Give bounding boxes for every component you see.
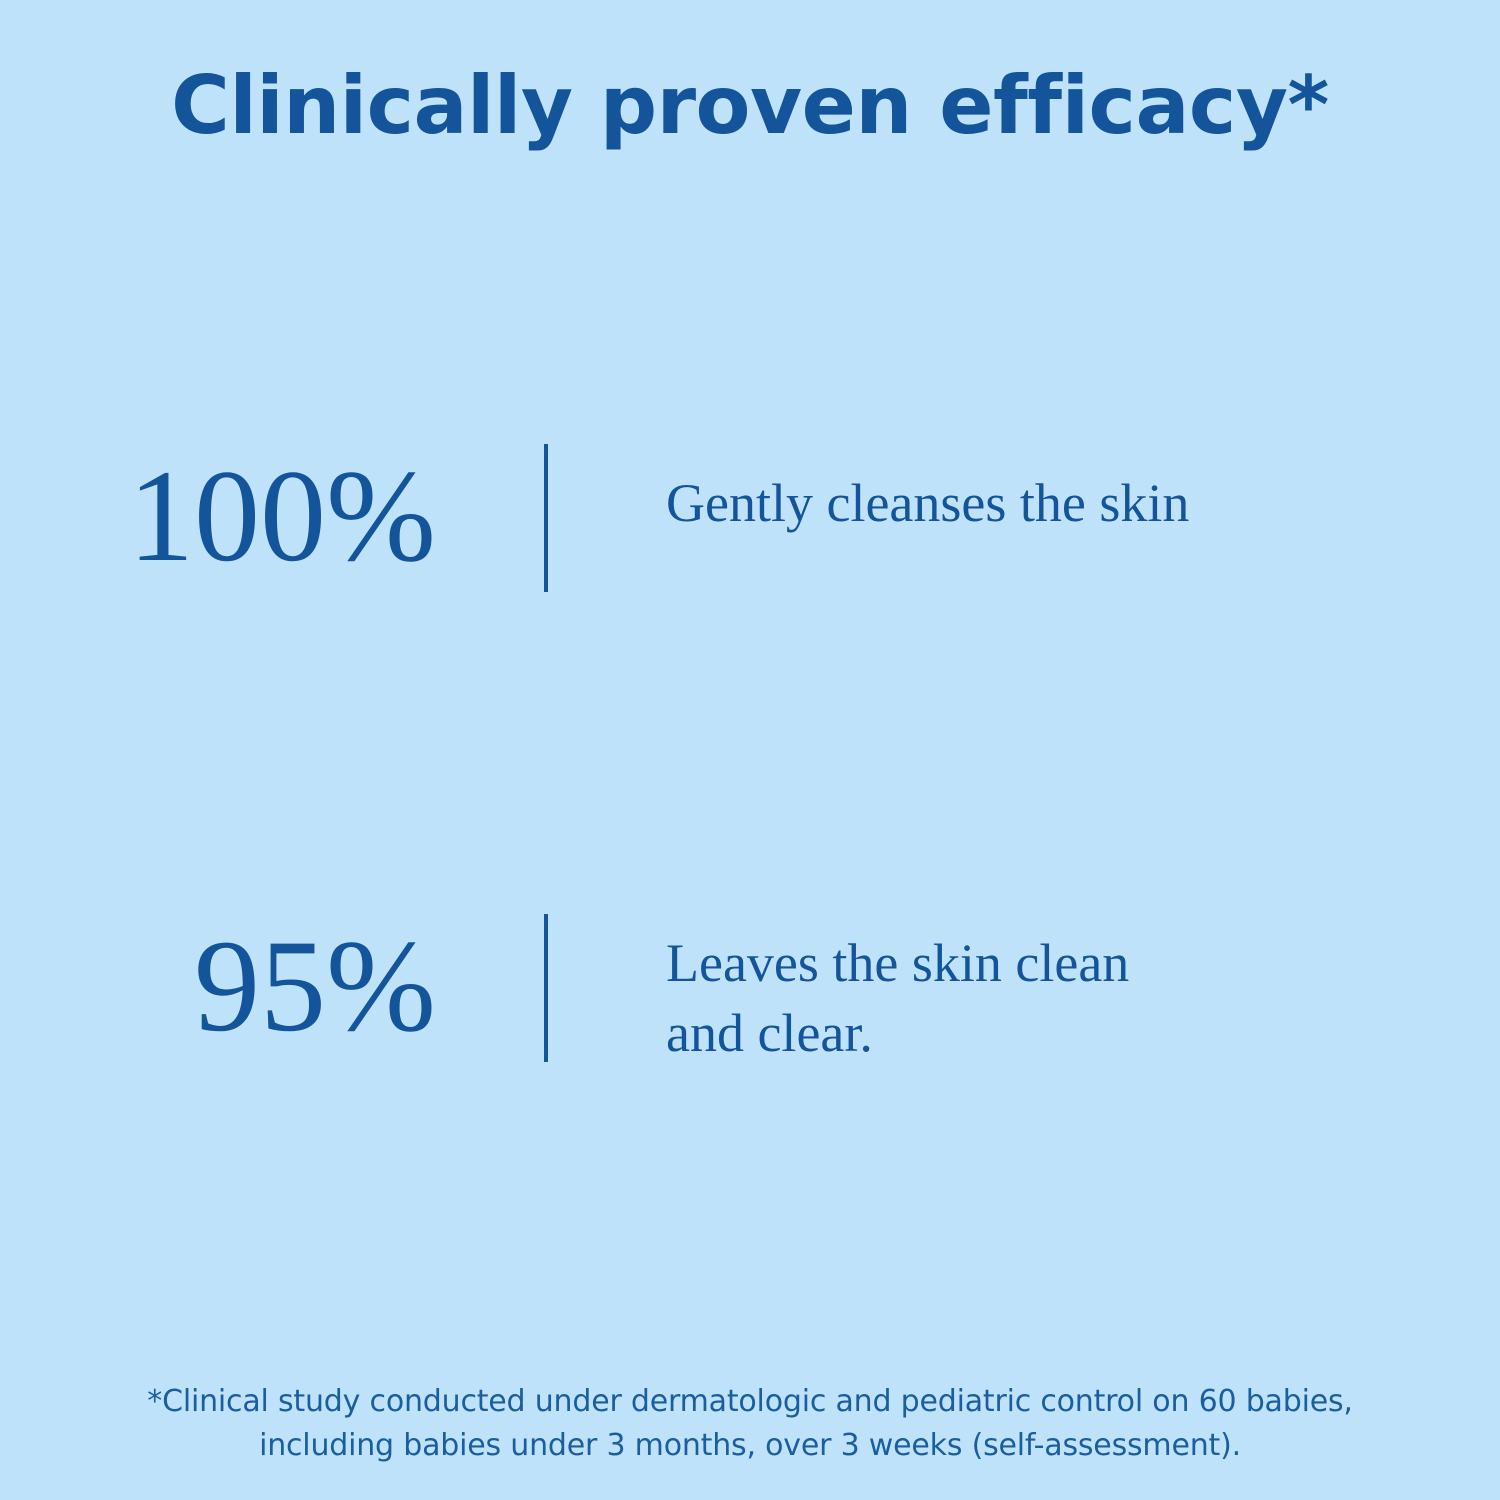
efficacy-claims-poster: Clinically proven efficacy* 100% Gently … (0, 0, 1500, 1500)
footnote-line: including babies under 3 months, over 3 … (0, 1424, 1500, 1468)
stat-claim-text: Leaves the skin clean and clear. (666, 906, 1129, 1068)
footnote-disclaimer: *Clinical study conducted under dermatol… (0, 1380, 1500, 1468)
stat-claim-line: and clear. (666, 998, 1129, 1068)
stat-claim-line: Gently cleanses the skin (666, 468, 1189, 538)
stat-claim-text: Gently cleanses the skin (666, 436, 1189, 538)
stat-claim-line: Leaves the skin clean (666, 928, 1129, 998)
stat-value-secondary: 95% (0, 906, 440, 1066)
stat-row: 100% Gently cleanses the skin (0, 436, 1500, 596)
stat-row: 95% Leaves the skin clean and clear. (0, 906, 1500, 1068)
footnote-line: *Clinical study conducted under dermatol… (0, 1380, 1500, 1424)
page-title: Clinically proven efficacy* (0, 64, 1500, 148)
vertical-divider (544, 914, 548, 1062)
stat-value-primary: 100% (0, 436, 440, 596)
vertical-divider (544, 444, 548, 592)
